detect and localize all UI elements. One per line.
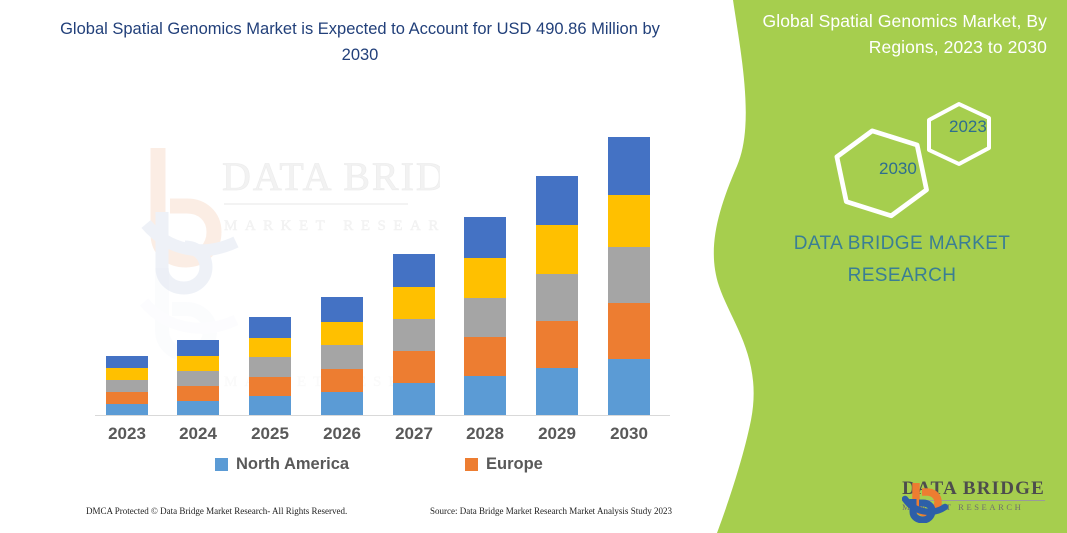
bar-2027[interactable] (393, 254, 435, 416)
bar-segment-middle-east-africa (177, 340, 219, 356)
bar-segment-middle-east-africa (608, 137, 650, 195)
bar-2030[interactable] (608, 137, 650, 416)
bar-segment-asia-pacific (321, 345, 363, 369)
bar-segment-south-america (321, 322, 363, 345)
bar-2023[interactable] (106, 356, 148, 416)
x-label-2029: 2029 (521, 424, 593, 444)
bar-segment-middle-east-africa (249, 317, 291, 338)
bar-segment-asia-pacific (464, 298, 506, 337)
legend-label-europe: Europe (486, 455, 543, 474)
bar-segment-europe (536, 321, 578, 368)
legend-swatch-north-america (215, 458, 228, 471)
bar-segment-asia-pacific (177, 371, 219, 386)
x-label-2028: 2028 (449, 424, 521, 444)
bar-segment-south-america (393, 287, 435, 319)
bar-segment-south-america (464, 258, 506, 298)
bar-segment-north-america (249, 396, 291, 416)
bar-segment-middle-east-africa (106, 356, 148, 368)
bar-segment-south-america (536, 225, 578, 274)
x-label-2025: 2025 (234, 424, 306, 444)
hexagon-label-2023: 2023 (949, 117, 987, 137)
infographic-root: Global Spatial Genomics Market is Expect… (0, 0, 1067, 533)
panel-title: Global Spatial Genomics Market, By Regio… (737, 8, 1047, 60)
data-bridge-logo: DATA BRIDGE MARKET RESEARCH (902, 479, 1045, 512)
bar-2029[interactable] (536, 176, 578, 416)
legend-item-north-america[interactable]: North America (215, 455, 349, 474)
bar-segment-europe (106, 392, 148, 404)
bar-segment-europe (321, 369, 363, 392)
footer: DMCA Protected © Data Bridge Market Rese… (0, 506, 700, 528)
bar-segment-europe (608, 303, 650, 359)
bar-segment-north-america (464, 376, 506, 416)
panel-brand-line2: RESEARCH (757, 260, 1047, 292)
chart-title: Global Spatial Genomics Market is Expect… (60, 16, 660, 68)
bar-chart-plot (95, 120, 670, 416)
x-label-2030: 2030 (593, 424, 665, 444)
bar-2024[interactable] (177, 340, 219, 416)
x-axis-line (95, 415, 670, 416)
chart-legend: North America Europe (95, 455, 670, 483)
bar-segment-north-america (393, 383, 435, 416)
bar-segment-south-america (106, 368, 148, 380)
chart-panel: Global Spatial Genomics Market is Expect… (0, 0, 720, 533)
bar-segment-europe (393, 351, 435, 383)
bar-segment-north-america (177, 401, 219, 416)
legend-swatch-europe (465, 458, 478, 471)
x-label-2024: 2024 (162, 424, 234, 444)
bar-segment-asia-pacific (393, 319, 435, 351)
bar-2028[interactable] (464, 217, 506, 416)
footer-source: Source: Data Bridge Market Research Mark… (430, 506, 672, 516)
x-label-2023: 2023 (91, 424, 163, 444)
bar-segment-north-america (608, 359, 650, 416)
bar-segment-middle-east-africa (464, 217, 506, 258)
bar-segment-middle-east-africa (393, 254, 435, 287)
data-bridge-logo-mark (902, 479, 948, 523)
legend-item-europe[interactable]: Europe (465, 455, 543, 474)
bar-segment-europe (464, 337, 506, 376)
bar-segment-europe (177, 386, 219, 401)
bar-2025[interactable] (249, 317, 291, 416)
bar-segment-middle-east-africa (321, 297, 363, 322)
green-side-panel: Global Spatial Genomics Market, By Regio… (707, 0, 1067, 533)
hexagon-label-2030: 2030 (879, 159, 917, 179)
bar-segment-south-america (608, 195, 650, 247)
bar-segment-north-america (321, 392, 363, 416)
panel-brand: DATA BRIDGE MARKET RESEARCH (757, 228, 1047, 292)
panel-brand-line1: DATA BRIDGE MARKET (757, 228, 1047, 260)
bar-segment-europe (249, 377, 291, 396)
footer-copyright: DMCA Protected © Data Bridge Market Rese… (86, 506, 347, 516)
bar-segment-asia-pacific (536, 274, 578, 321)
legend-label-north-america: North America (236, 455, 349, 474)
hexagon-badges: 2023 2030 (767, 90, 1067, 220)
x-label-2027: 2027 (378, 424, 450, 444)
bar-segment-south-america (249, 338, 291, 357)
bar-segment-middle-east-africa (536, 176, 578, 225)
bar-segment-asia-pacific (608, 247, 650, 303)
bar-segment-north-america (536, 368, 578, 416)
x-axis-labels: 2023 2024 2025 2026 2027 2028 2029 2030 (95, 424, 670, 454)
bar-2026[interactable] (321, 297, 363, 416)
x-label-2026: 2026 (306, 424, 378, 444)
bar-segment-south-america (177, 356, 219, 371)
bar-segment-asia-pacific (106, 380, 148, 392)
bar-segment-asia-pacific (249, 357, 291, 377)
